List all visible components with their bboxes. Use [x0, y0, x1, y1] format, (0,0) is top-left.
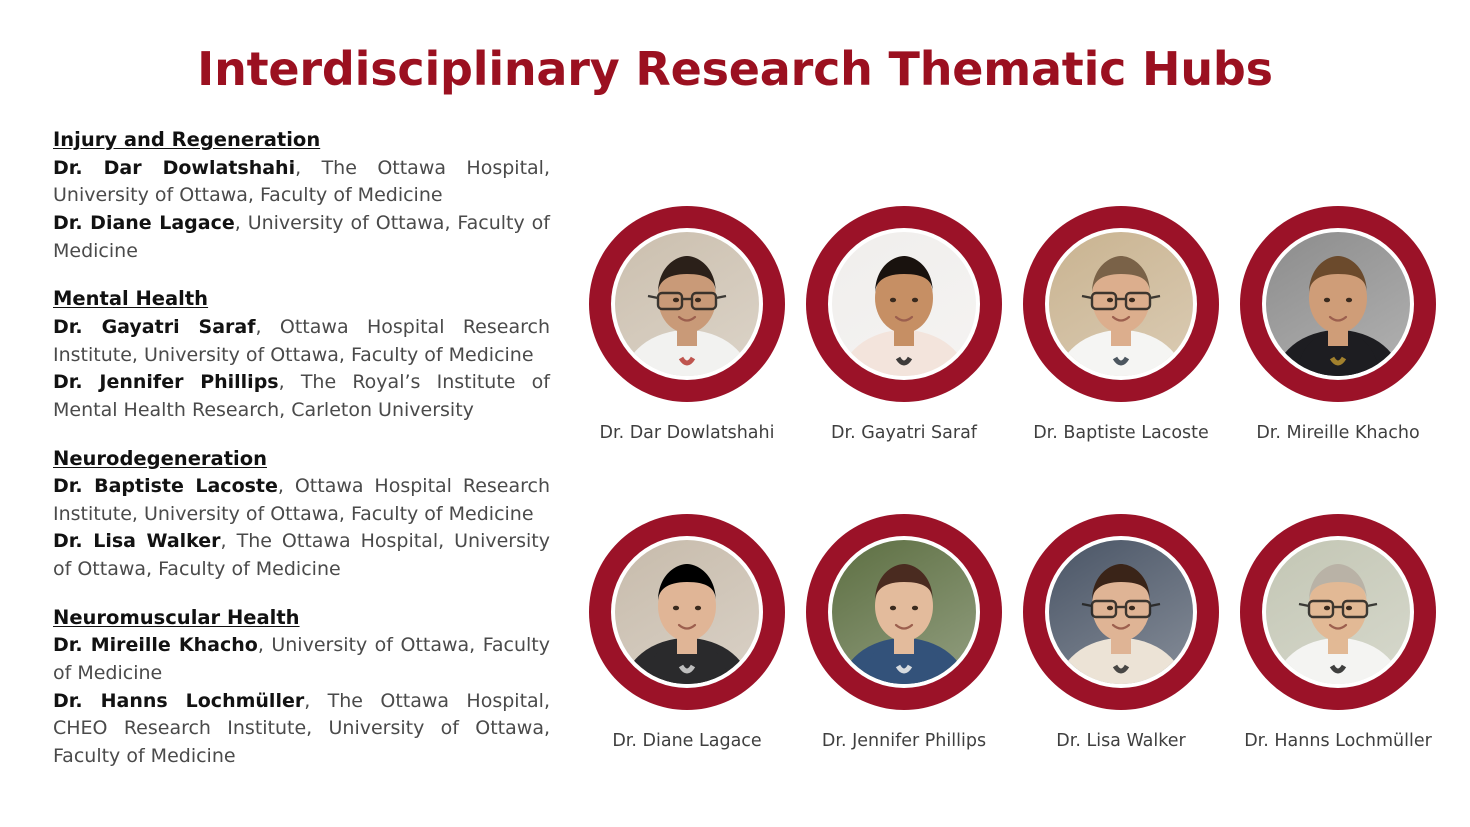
page-title: Interdisciplinary Research Thematic Hubs	[0, 42, 1470, 96]
photo-caption: Dr. Hanns Lochmüller	[1244, 731, 1432, 752]
portrait-inner-ring	[828, 536, 980, 688]
researcher-card[interactable]: Dr. Diane Lagace	[583, 514, 791, 752]
researcher-photo-grid: Dr. Dar Dowlatshahi	[583, 206, 1443, 752]
member-name: Dr. Dar Dowlatshahi	[53, 157, 295, 179]
photo-caption: Dr. Jennifer Phillips	[822, 731, 986, 752]
hub-member: Dr. Jennifer Phillips, The Royal’s Insti…	[53, 369, 550, 424]
portrait-jennifer-phillips	[832, 540, 976, 684]
hub-member: Dr. Lisa Walker, The Ottawa Hospital, Un…	[53, 528, 550, 583]
portrait-dar-dowlatshahi	[615, 232, 759, 376]
photo-caption: Dr. Dar Dowlatshahi	[600, 423, 775, 444]
hub-member: Dr. Dar Dowlatshahi, The Ottawa Hospital…	[53, 155, 550, 210]
portrait-ring	[806, 514, 1002, 710]
member-name: Dr. Lisa Walker	[53, 530, 221, 552]
researcher-card[interactable]: Dr. Hanns Lochmüller	[1234, 514, 1442, 752]
researcher-card[interactable]: Dr. Gayatri Saraf	[800, 206, 1008, 444]
researcher-card[interactable]: Dr. Dar Dowlatshahi	[583, 206, 791, 444]
member-name: Dr. Baptiste Lacoste	[53, 475, 278, 497]
portrait-baptiste-lacoste	[1049, 232, 1193, 376]
portrait-diane-lagace	[615, 540, 759, 684]
portrait-ring	[589, 206, 785, 402]
member-name: Dr. Gayatri Saraf	[53, 316, 256, 338]
portrait-inner-ring	[1262, 228, 1414, 380]
portrait-inner-ring	[1045, 228, 1197, 380]
hub-block-neuromuscular-health: Neuromuscular Health Dr. Mireille Khacho…	[53, 604, 550, 771]
member-name: Dr. Diane Lagace	[53, 212, 235, 234]
photo-caption: Dr. Mireille Khacho	[1256, 423, 1419, 444]
portrait-inner-ring	[611, 228, 763, 380]
portrait-ring	[589, 514, 785, 710]
hub-member: Dr. Hanns Lochmüller, The Ottawa Hospita…	[53, 688, 550, 771]
portrait-ring	[1023, 206, 1219, 402]
portrait-inner-ring	[828, 228, 980, 380]
thematic-hub-list: Injury and Regeneration Dr. Dar Dowlatsh…	[53, 126, 550, 771]
portrait-gayatri-saraf	[832, 232, 976, 376]
portrait-ring	[1240, 514, 1436, 710]
hub-heading: Neuromuscular Health	[53, 604, 550, 632]
photo-row: Dr. Diane Lagace	[583, 514, 1443, 752]
portrait-mireille-khacho	[1266, 232, 1410, 376]
researcher-card[interactable]: Dr. Lisa Walker	[1017, 514, 1225, 752]
portrait-ring	[806, 206, 1002, 402]
member-name: Dr. Hanns Lochmüller	[53, 690, 304, 712]
hub-member: Dr. Diane Lagace, University of Ottawa, …	[53, 210, 550, 265]
hub-block-neurodegeneration: Neurodegeneration Dr. Baptiste Lacoste, …	[53, 445, 550, 584]
researcher-card[interactable]: Dr. Baptiste Lacoste	[1017, 206, 1225, 444]
portrait-ring	[1240, 206, 1436, 402]
photo-caption: Dr. Baptiste Lacoste	[1033, 423, 1209, 444]
photo-caption: Dr. Lisa Walker	[1056, 731, 1185, 752]
researcher-card[interactable]: Dr. Jennifer Phillips	[800, 514, 1008, 752]
portrait-ring	[1023, 514, 1219, 710]
hub-block-mental-health: Mental Health Dr. Gayatri Saraf, Ottawa …	[53, 285, 550, 424]
photo-row: Dr. Dar Dowlatshahi	[583, 206, 1443, 444]
portrait-hanns-lochmuller	[1266, 540, 1410, 684]
portrait-inner-ring	[1045, 536, 1197, 688]
photo-caption: Dr. Gayatri Saraf	[831, 423, 977, 444]
member-name: Dr. Mireille Khacho	[53, 634, 258, 656]
member-name: Dr. Jennifer Phillips	[53, 371, 279, 393]
hub-member: Dr. Baptiste Lacoste, Ottawa Hospital Re…	[53, 473, 550, 528]
hub-member: Dr. Mireille Khacho, University of Ottaw…	[53, 632, 550, 687]
portrait-inner-ring	[611, 536, 763, 688]
photo-caption: Dr. Diane Lagace	[612, 731, 761, 752]
hub-heading: Injury and Regeneration	[53, 126, 550, 154]
hub-member: Dr. Gayatri Saraf, Ottawa Hospital Resea…	[53, 314, 550, 369]
hub-heading: Mental Health	[53, 285, 550, 313]
portrait-inner-ring	[1262, 536, 1414, 688]
hub-heading: Neurodegeneration	[53, 445, 550, 473]
researcher-card[interactable]: Dr. Mireille Khacho	[1234, 206, 1442, 444]
hub-block-injury-and-regeneration: Injury and Regeneration Dr. Dar Dowlatsh…	[53, 126, 550, 265]
portrait-lisa-walker	[1049, 540, 1193, 684]
